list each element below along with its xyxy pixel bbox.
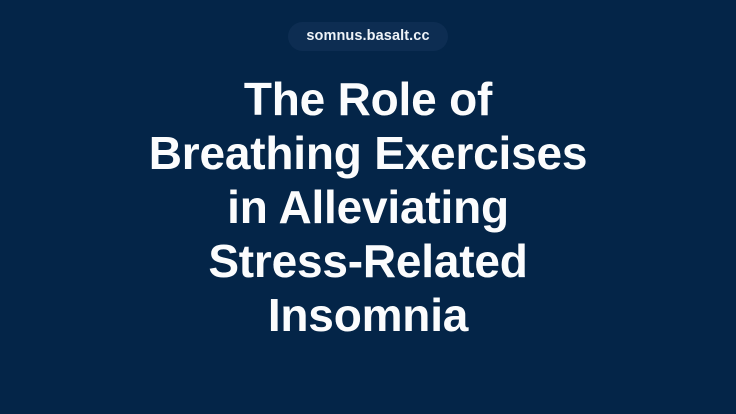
page-title-line-5: Insomnia [38,288,698,342]
title-card: somnus.basalt.cc The Role of Breathing E… [0,0,736,414]
site-domain-label: somnus.basalt.cc [306,29,429,44]
site-domain-badge: somnus.basalt.cc [288,22,448,51]
badge-row: somnus.basalt.cc [0,22,736,51]
page-title: The Role of Breathing Exercises in Allev… [38,72,698,342]
page-title-line-1: The Role of [38,72,698,126]
page-title-line-4: Stress-Related [38,234,698,288]
page-title-line-3: in Alleviating [38,180,698,234]
page-title-line-2: Breathing Exercises [38,126,698,180]
